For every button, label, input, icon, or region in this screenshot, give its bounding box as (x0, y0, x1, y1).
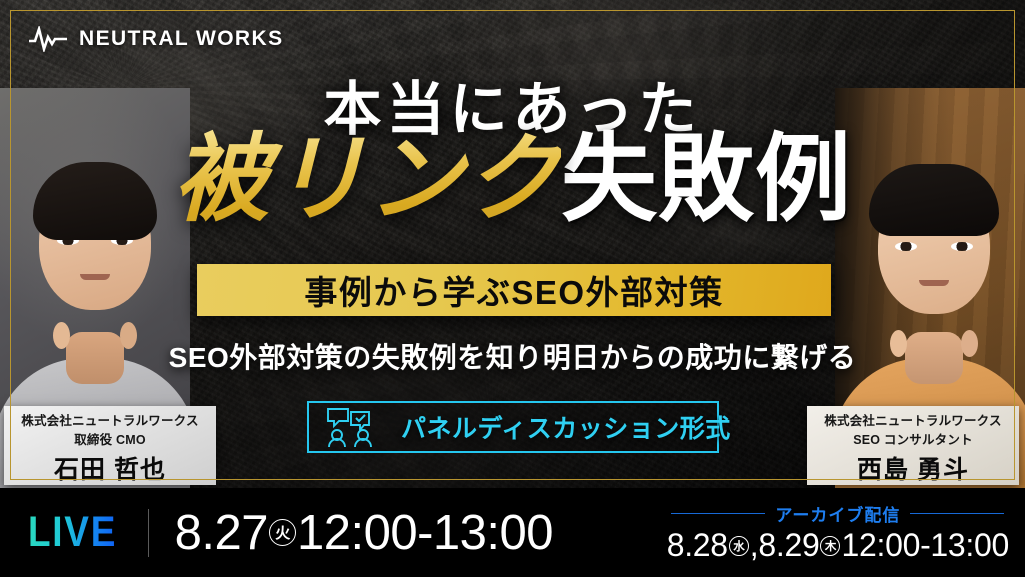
pulse-wave-icon (28, 26, 68, 52)
archive-rule-right (910, 513, 1004, 515)
speaker-company: 株式会社ニュートラルワークス (21, 412, 198, 431)
panel-discussion-badge: パネルディスカッション形式 (307, 401, 719, 453)
archive-day-of-week-1: 水 (729, 536, 749, 556)
speaker-name: 西島 勇斗 (857, 450, 969, 486)
speaker-role: SEO コンサルタント (853, 431, 973, 450)
live-day-of-week: 火 (269, 519, 296, 546)
figure-eye-right (951, 242, 973, 251)
speaker-nameplate-left: 株式会社ニュートラルワークス 取締役 CMO 石田 哲也 (4, 406, 216, 485)
panel-discussion-label: パネルディスカッション形式 (401, 409, 731, 445)
archive-date-2: 8.29 (758, 527, 819, 564)
speaker-company: 株式会社ニュートラルワークス (824, 412, 1001, 431)
figure-mouth (919, 280, 949, 286)
headline-line-2: 被リンク失敗例 (0, 130, 1025, 231)
brand-logo: NEUTRAL WORKS (28, 26, 283, 52)
headline-keyword-white: 失敗例 (561, 126, 852, 233)
sub-banner-text: 事例から学ぶSEO外部対策 (304, 266, 723, 314)
schedule-bar: LIVE 8.27火12:00-13:00 アーカイブ配信 8.28水, 8.2… (0, 488, 1025, 577)
panel-discussion-icon (325, 407, 387, 447)
live-date: 8.27 (175, 505, 268, 561)
sub-banner: 事例から学ぶSEO外部対策 (197, 264, 831, 316)
live-label: LIVE (28, 508, 117, 557)
webinar-banner: NEUTRAL WORKS 本当にあった 被リンク失敗例 事例から学ぶSEO外部… (0, 0, 1025, 577)
headline-keyword-gold: 被リンク (173, 126, 561, 233)
live-datetime: 8.27火12:00-13:00 (175, 505, 553, 561)
brand-logo-text: NEUTRAL WORKS (79, 27, 283, 51)
archive-block: アーカイブ配信 8.28水, 8.29木12:00-13:00 (667, 501, 1009, 564)
figure-eye-left (895, 242, 917, 251)
archive-label: アーカイブ配信 (775, 501, 900, 526)
archive-date-1: 8.28 (667, 527, 728, 564)
speaker-nameplate-right: 株式会社ニュートラルワークス SEO コンサルタント 西島 勇斗 (807, 406, 1019, 485)
archive-time: 12:00-13:00 (841, 527, 1009, 564)
figure-mouth (80, 274, 110, 280)
lead-text: SEO外部対策の失敗例を知り明日からの成功に繋げる (0, 336, 1025, 376)
speaker-role: 取締役 CMO (74, 431, 146, 450)
live-time: 12:00-13:00 (297, 505, 553, 561)
archive-datetime: 8.28水, 8.29木12:00-13:00 (667, 527, 1009, 564)
archive-separator: , (750, 527, 759, 564)
archive-day-of-week-2: 木 (820, 536, 840, 556)
archive-heading: アーカイブ配信 (667, 501, 1009, 526)
archive-rule-left (671, 513, 765, 515)
speaker-name: 石田 哲也 (54, 450, 166, 486)
schedule-divider (148, 509, 149, 557)
